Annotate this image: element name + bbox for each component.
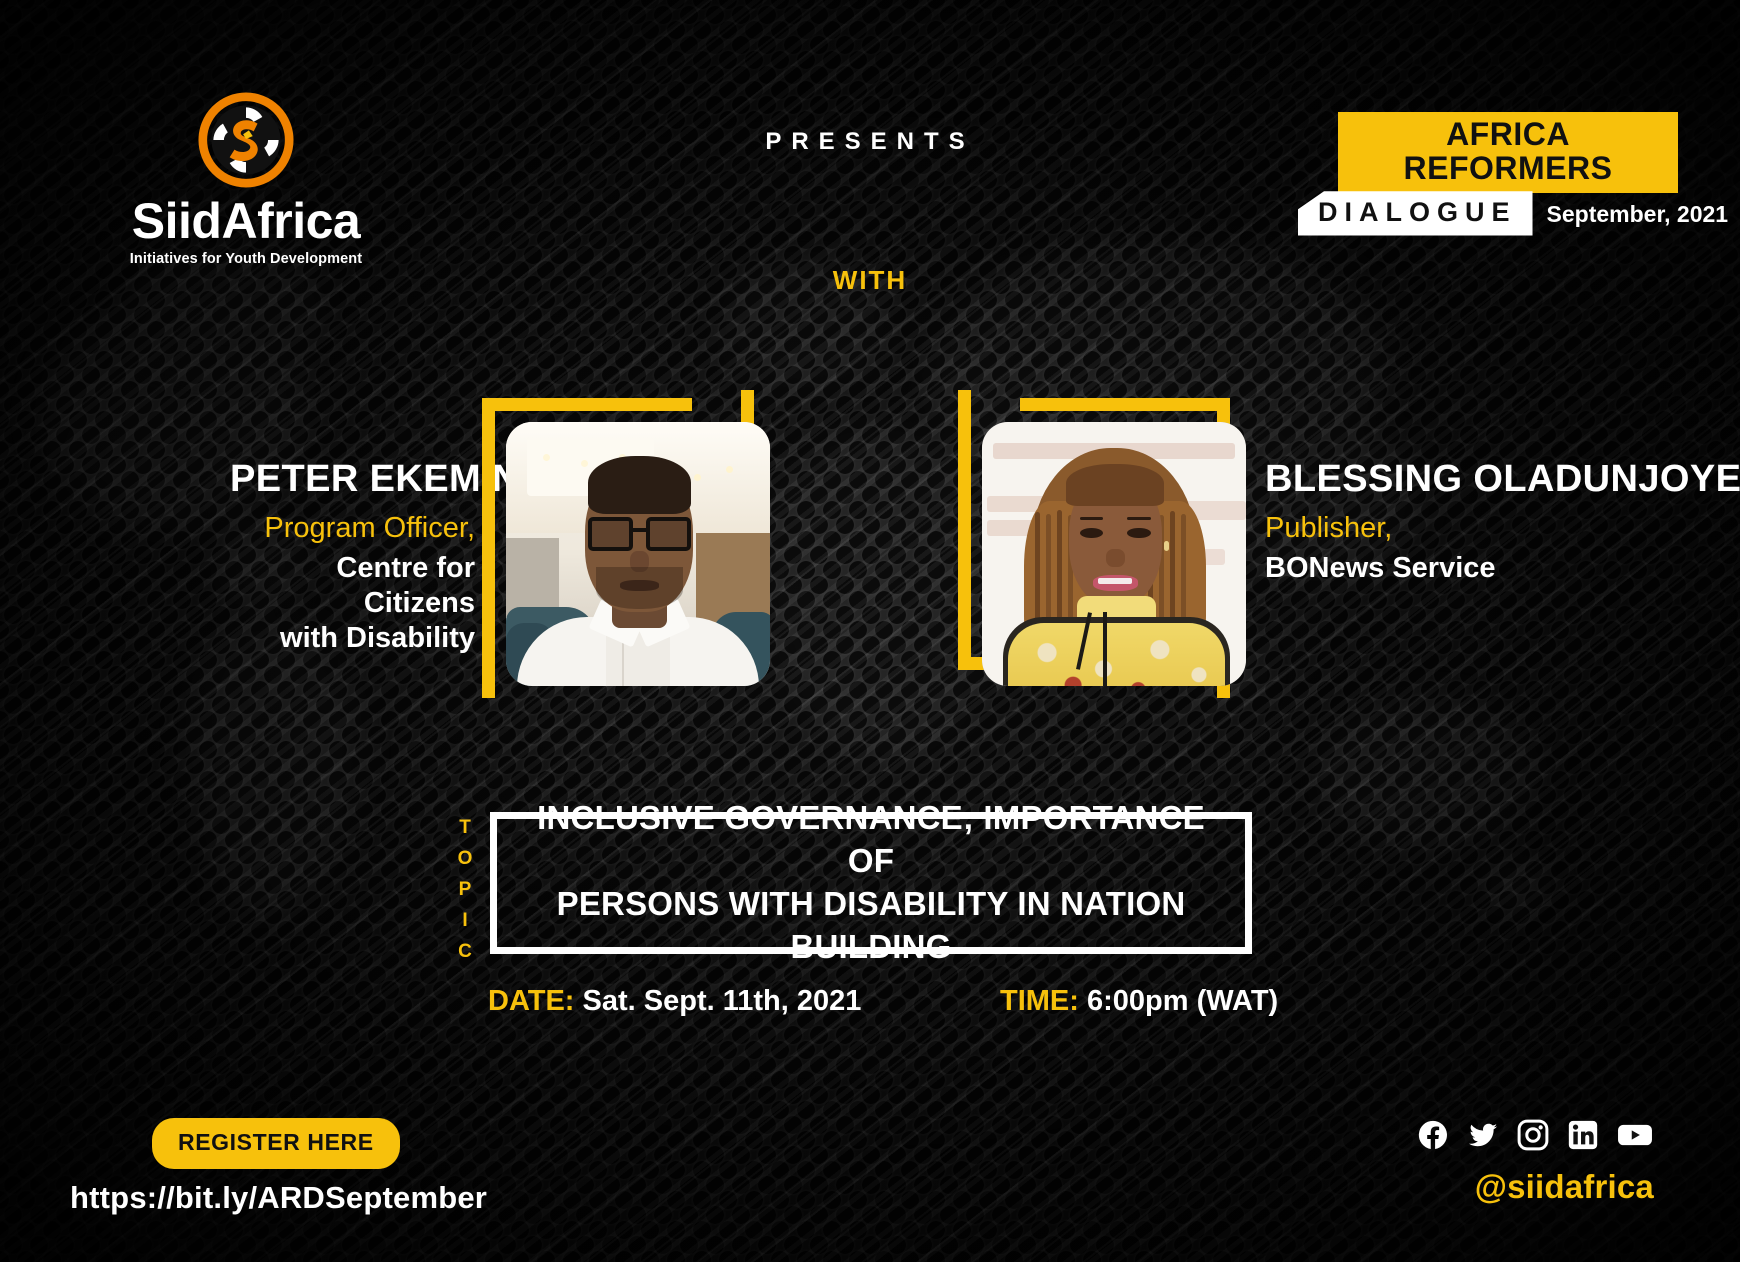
facebook-icon[interactable] <box>1416 1118 1450 1152</box>
speaker-photo-frame-right <box>958 398 1230 670</box>
speaker-photo-left <box>506 422 770 686</box>
register-here-button[interactable]: REGISTER HERE <box>152 1118 400 1169</box>
social-handle[interactable]: @siidafrica <box>1475 1168 1654 1206</box>
registration-url[interactable]: https://bit.ly/ARDSeptember <box>70 1180 487 1216</box>
time-line: TIME: 6:00pm (WAT) <box>1000 985 1278 1018</box>
topic-text: INCLUSIVE GOVERNANCE; IMPORTANCE OF PERS… <box>497 797 1245 969</box>
speaker-organization-line1: BONews Service <box>1265 551 1685 586</box>
speaker-photo-frame-left <box>482 398 754 670</box>
event-flyer: SiidAfrica Initiatives for Youth Develop… <box>0 0 1740 1262</box>
topic-box: INCLUSIVE GOVERNANCE; IMPORTANCE OF PERS… <box>490 812 1252 954</box>
event-badge: AFRICA REFORMERS DIALOGUE September, 202… <box>1298 112 1678 236</box>
topic-letter: O <box>452 843 478 874</box>
logo-wordmark: SiidAfrica <box>96 196 396 246</box>
speaker-name: BLESSING OLADUNJOYE <box>1265 460 1685 498</box>
badge-month: September, 2021 <box>1533 201 1729 236</box>
speaker-organization: Centre for Citizens with Disability <box>230 551 475 655</box>
topic-line-2: PERSONS WITH DISABILITY IN NATION BUILDI… <box>511 883 1231 969</box>
topic-letter: P <box>452 874 478 905</box>
time-value: 6:00pm (WAT) <box>1087 985 1278 1017</box>
twitter-icon[interactable] <box>1466 1118 1500 1152</box>
speaker-info-right: BLESSING OLADUNJOYE Publisher, BONews Se… <box>1265 460 1685 586</box>
topic-letter: T <box>452 812 478 843</box>
speaker-role: Program Officer, <box>230 512 475 545</box>
topic-letter: I <box>452 905 478 936</box>
youtube-icon[interactable] <box>1616 1118 1654 1152</box>
with-label: WITH <box>0 265 1740 296</box>
linkedin-icon[interactable] <box>1566 1118 1600 1152</box>
social-icon-bar <box>1416 1118 1654 1152</box>
badge-subtitle: DIALOGUE <box>1298 191 1533 235</box>
speaker-organization-line2: with Disability <box>230 621 475 656</box>
date-value: Sat. Sept. 11th, 2021 <box>583 985 862 1017</box>
speaker-organization-line1: Centre for Citizens <box>230 551 475 621</box>
topic-line-1: INCLUSIVE GOVERNANCE; IMPORTANCE OF <box>511 797 1231 883</box>
badge-title: AFRICA REFORMERS <box>1338 112 1678 193</box>
speaker-name: PETER EKEMINI <box>230 460 475 498</box>
speaker-info-left: PETER EKEMINI Program Officer, Centre fo… <box>230 460 475 656</box>
brand-logo: SiidAfrica Initiatives for Youth Develop… <box>96 92 396 267</box>
topic-vertical-label: T O P I C <box>452 812 478 967</box>
speaker-photo-right <box>982 422 1246 686</box>
time-label: TIME: <box>1000 985 1079 1017</box>
topic-letter: C <box>452 936 478 967</box>
date-label: DATE: <box>488 985 574 1017</box>
speaker-role: Publisher, <box>1265 512 1685 545</box>
date-line: DATE: Sat. Sept. 11th, 2021 <box>488 985 861 1018</box>
instagram-icon[interactable] <box>1516 1118 1550 1152</box>
speaker-organization: BONews Service <box>1265 551 1685 586</box>
